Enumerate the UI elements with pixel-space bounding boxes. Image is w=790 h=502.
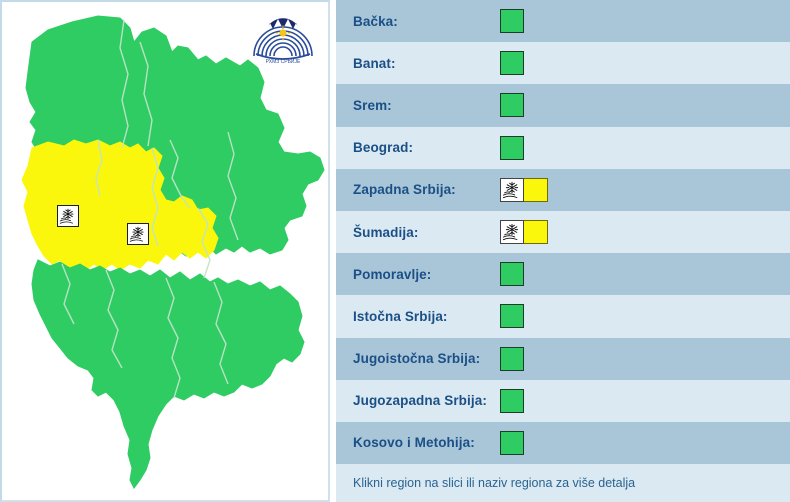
region-label: Jugoistočna Srbija: [353,351,500,366]
region-label: Pomoravlje: [353,267,500,282]
region-label: Banat: [353,56,500,71]
blizzard-snow-icon [500,220,524,244]
region-label: Istočna Srbija: [353,309,500,324]
region-label: Kosovo i Metohija: [353,435,500,450]
region-badges [500,136,524,160]
warning-level-badge-green [500,431,524,455]
blizzard-snow-icon [500,178,524,202]
map-panel: РХМЗ СРБИЈЕ [0,0,330,502]
region-row-pomoravlje[interactable]: Pomoravlje: [336,253,790,295]
region-row-jugoistocna-srbija[interactable]: Jugoistočna Srbija: [336,338,790,380]
region-badges [500,431,524,455]
region-badges [500,51,524,75]
region-badges [500,262,524,286]
region-row-srem[interactable]: Srem: [336,84,790,126]
region-row-sumadija[interactable]: Šumadija: [336,211,790,253]
warning-level-badge-green [500,9,524,33]
weather-warning-page: РХМЗ СРБИЈЕ [0,0,790,502]
region-badges [500,304,524,328]
region-label: Beograd: [353,140,500,155]
serbia-map[interactable] [2,2,328,500]
rhmz-logo-caption: РХМЗ СРБИЈЕ [266,59,301,65]
region-row-backa[interactable]: Bačka: [336,0,790,42]
region-row-jugozapadna-srbija[interactable]: Jugozapadna Srbija: [336,380,790,422]
region-badges [500,93,524,117]
warning-level-badge-green [500,347,524,371]
warning-level-badge-green [500,51,524,75]
warning-level-badge-green [500,93,524,117]
warning-level-badge-green [500,304,524,328]
warning-level-badge-green [500,136,524,160]
footer-hint: Klikni region na slici ili naziv regiona… [336,464,790,502]
blizzard-snow-icon [58,206,78,226]
region-warning-list: Bačka:Banat:Srem:Beograd:Zapadna Srbija:… [336,0,790,502]
region-row-zapadna-srbija[interactable]: Zapadna Srbija: [336,169,790,211]
region-label: Šumadija: [353,225,500,240]
warning-level-badge-green [500,389,524,413]
region-label: Bačka: [353,14,500,29]
region-badges [500,220,548,244]
region-label: Zapadna Srbija: [353,182,500,197]
region-row-banat[interactable]: Banat: [336,42,790,84]
warning-level-badge-yellow [524,220,548,244]
region-badges [500,9,524,33]
region-label: Srem: [353,98,500,113]
region-row-kosovo-i-metohija[interactable]: Kosovo i Metohija: [336,422,790,464]
blizzard-snow-icon [128,224,148,244]
map-icon-sumadija[interactable] [127,223,149,245]
region-row-istocna-srbija[interactable]: Istočna Srbija: [336,295,790,337]
warning-level-badge-green [500,262,524,286]
rhmz-logo: РХМЗ СРБИЈЕ [250,6,316,68]
region-badges [500,389,524,413]
region-label: Jugozapadna Srbija: [353,393,500,408]
region-badges [500,178,548,202]
region-row-beograd[interactable]: Beograd: [336,127,790,169]
map-icon-zapadna-srbija[interactable] [57,205,79,227]
region-badges [500,347,524,371]
warning-level-badge-yellow [524,178,548,202]
